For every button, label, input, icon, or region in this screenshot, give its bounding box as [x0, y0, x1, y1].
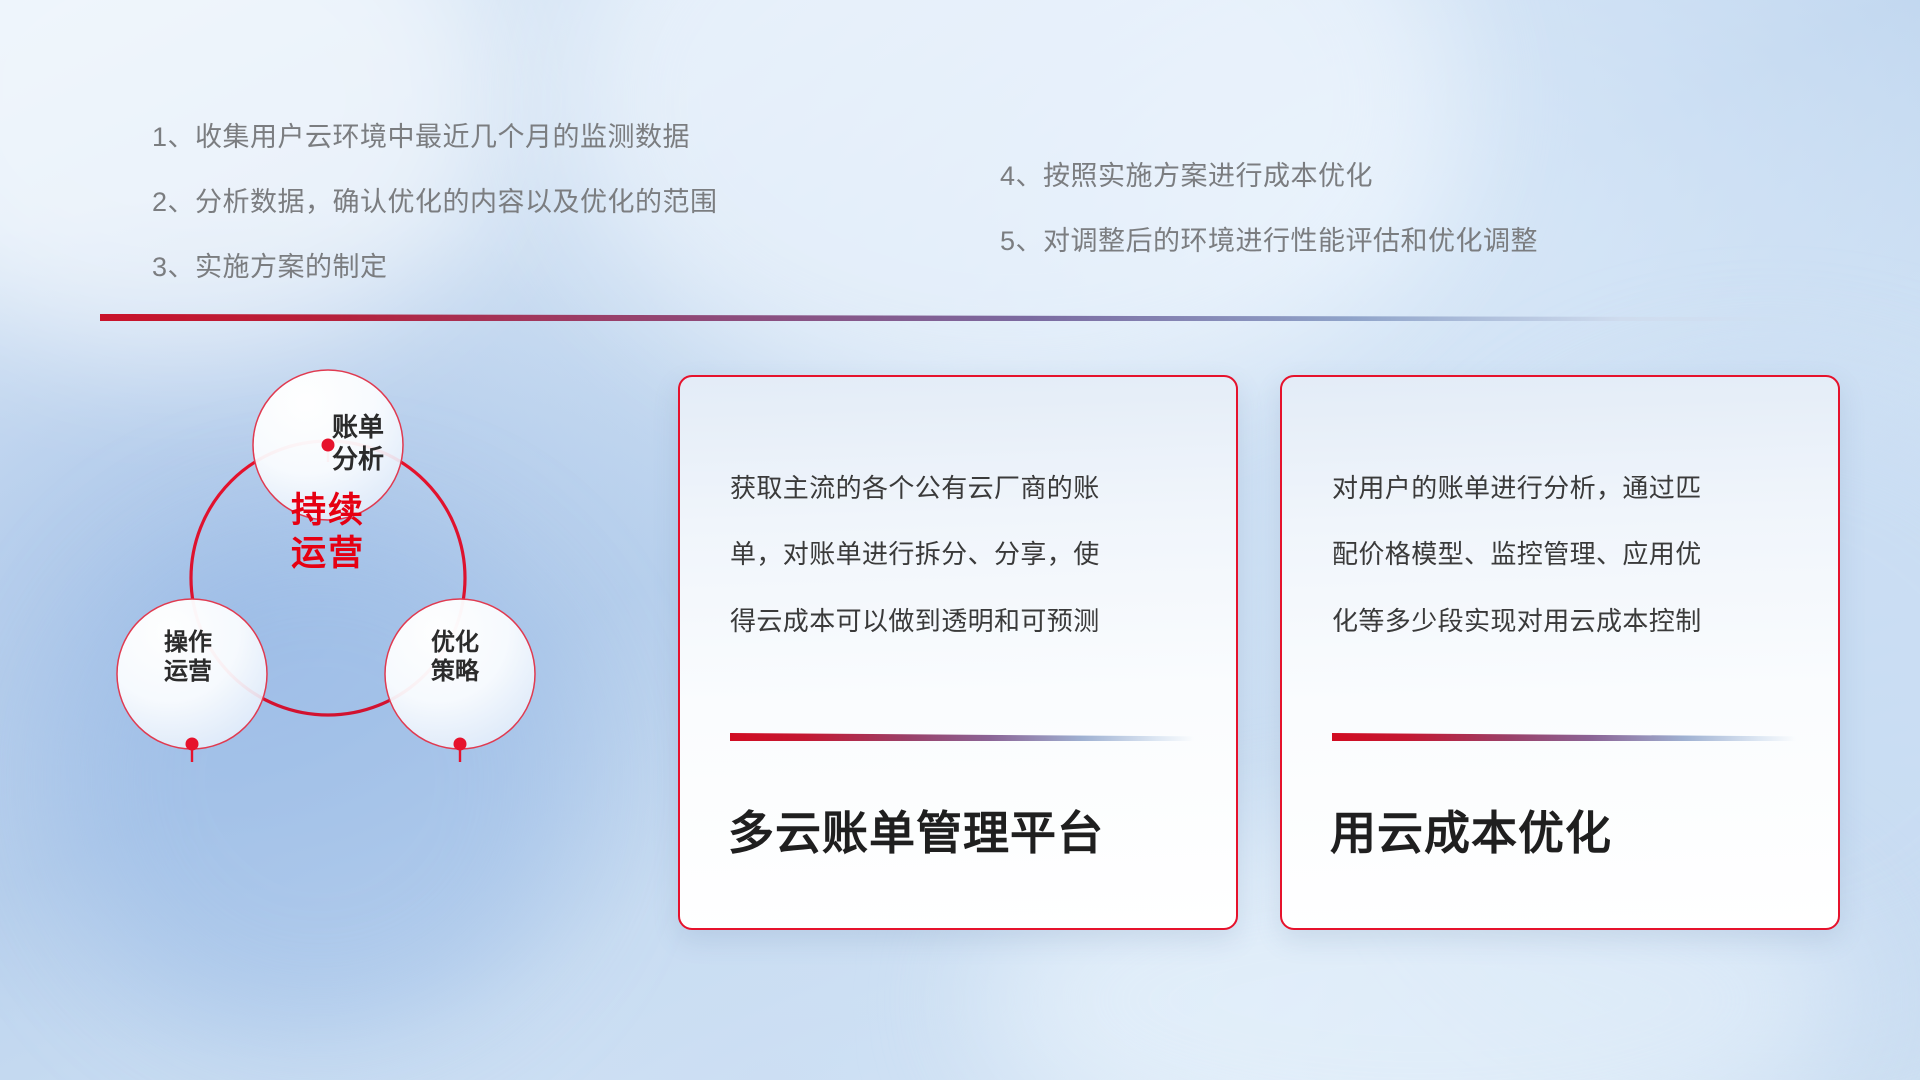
slide-canvas: 1、收集用户云环境中最近几个月的监测数据 2、分析数据，确认优化的内容以及优化的…: [0, 0, 1920, 1080]
venn-dot-bottom-right: [454, 738, 467, 751]
card-body-line: 获取主流的各个公有云厂商的账: [730, 455, 1196, 521]
section-divider-rule: [100, 314, 1790, 321]
card-divider-rule: [730, 733, 1194, 741]
card-body-text: 对用户的账单进行分析，通过匹 配价格模型、监控管理、应用优 化等多少段实现对用云…: [1332, 455, 1798, 654]
card-body-line: 配价格模型、监控管理、应用优: [1332, 521, 1798, 587]
venn-bubble-bottom-right: [385, 599, 535, 749]
card-title: 用云成本优化: [1330, 797, 1808, 863]
card-body-text: 获取主流的各个公有云厂商的账 单，对账单进行拆分、分享，使 得云成本可以做到透明…: [730, 455, 1196, 654]
card-body-line: 对用户的账单进行分析，通过匹: [1332, 455, 1798, 521]
venn-bubble-bottom-left: [117, 599, 267, 749]
step-item-1: 1、收集用户云环境中最近几个月的监测数据: [152, 124, 718, 151]
step-item-4: 4、按照实施方案进行成本优化: [1000, 163, 1538, 190]
steps-right-column: 4、按照实施方案进行成本优化 5、对调整后的环境进行性能评估和优化调整: [1000, 163, 1538, 255]
venn-dot-bottom-left: [186, 738, 199, 751]
steps-left-column: 1、收集用户云环境中最近几个月的监测数据 2、分析数据，确认优化的内容以及优化的…: [152, 124, 718, 281]
card-body-line: 得云成本可以做到透明和可预测: [730, 588, 1196, 654]
card-body-line: 单，对账单进行拆分、分享，使: [730, 521, 1196, 587]
step-item-3: 3、实施方案的制定: [152, 254, 718, 281]
card-cloud-cost-optimization[interactable]: 对用户的账单进行分析，通过匹 配价格模型、监控管理、应用优 化等多少段实现对用云…: [1280, 375, 1840, 930]
card-multi-cloud-billing-platform[interactable]: 获取主流的各个公有云厂商的账 单，对账单进行拆分、分享，使 得云成本可以做到透明…: [678, 375, 1238, 930]
step-item-5: 5、对调整后的环境进行性能评估和优化调整: [1000, 228, 1538, 255]
card-divider-rule: [1332, 733, 1796, 741]
venn-dot-top-visible: [322, 439, 335, 452]
card-title: 多云账单管理平台: [728, 797, 1206, 863]
card-body-line: 化等多少段实现对用云成本控制: [1332, 588, 1798, 654]
venn-diagram: 账单 分析 操作 运营 优化 策略 持续 运营: [90, 350, 550, 820]
step-item-2: 2、分析数据，确认优化的内容以及优化的范围: [152, 189, 718, 216]
